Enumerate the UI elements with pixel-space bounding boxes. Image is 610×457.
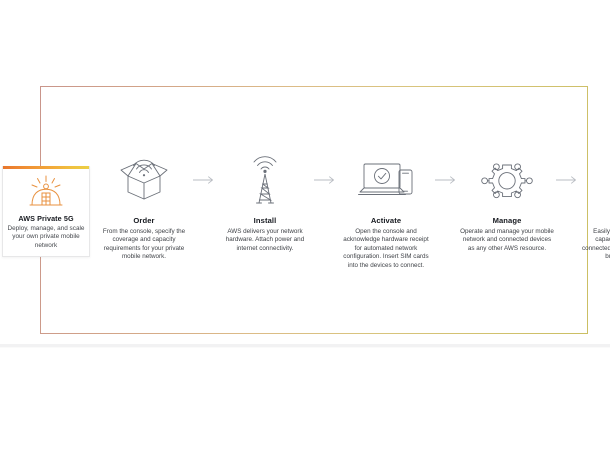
product-card-description: Deploy, manage, and scale your own priva… <box>3 225 89 250</box>
step-install-description: AWS delivers your network hardware. Atta… <box>217 228 313 253</box>
step-manage[interactable]: Manage Operate and manage your mobile ne… <box>459 150 555 253</box>
step-activate[interactable]: Activate Open the console and acknowledg… <box>338 150 434 270</box>
arrow-right-icon <box>192 175 217 185</box>
step-install-title: Install <box>254 216 277 225</box>
product-card-title: AWS Private 5G <box>3 214 89 223</box>
step-scale-icon-wrap <box>604 150 610 210</box>
expand-arrows-circle-icon <box>604 156 610 204</box>
diagram-page: AWS Private 5G Deploy, manage, and scale… <box>0 0 610 457</box>
arrow-right-icon <box>313 175 338 185</box>
laptop-checkmark-phone-icon <box>355 156 417 204</box>
step-manage-icon-wrap <box>480 150 534 210</box>
step-install-icon-wrap <box>240 150 290 210</box>
product-card-aws-private-5g[interactable]: AWS Private 5G Deploy, manage, and scale… <box>2 166 90 257</box>
step-activate-title: Activate <box>371 216 401 225</box>
step-manage-title: Manage <box>493 216 522 225</box>
product-card-accent-bar <box>3 166 89 169</box>
step-order-icon-wrap <box>116 150 172 210</box>
arrow-right-icon <box>434 175 459 185</box>
process-steps: Order From the console, specify the cove… <box>96 150 598 300</box>
step-order-title: Order <box>133 216 154 225</box>
step-scale-description: Easily adjust the network capacity and n… <box>580 228 610 262</box>
arrow-right-icon <box>555 175 580 185</box>
private-5g-dome-icon <box>23 174 69 210</box>
section-divider-secondary <box>0 347 610 348</box>
connector-order-to-install <box>192 150 217 210</box>
step-install[interactable]: Install AWS delivers your network hardwa… <box>217 150 313 253</box>
connector-activate-to-manage <box>434 150 459 210</box>
gear-nodes-icon <box>480 155 534 205</box>
step-order[interactable]: Order From the console, specify the cove… <box>96 150 192 262</box>
step-manage-description: Operate and manage your mobile network a… <box>459 228 555 253</box>
open-box-with-signal-waves-icon <box>116 154 172 206</box>
cell-tower-icon <box>240 153 290 207</box>
step-activate-icon-wrap <box>355 150 417 210</box>
step-activate-description: Open the console and acknowledge hardwar… <box>338 228 434 270</box>
connector-install-to-activate <box>313 150 338 210</box>
step-scale[interactable]: Scale Easily adjust the network capacity… <box>580 150 610 262</box>
connector-manage-to-scale <box>555 150 580 210</box>
step-order-description: From the console, specify the coverage a… <box>96 228 192 262</box>
